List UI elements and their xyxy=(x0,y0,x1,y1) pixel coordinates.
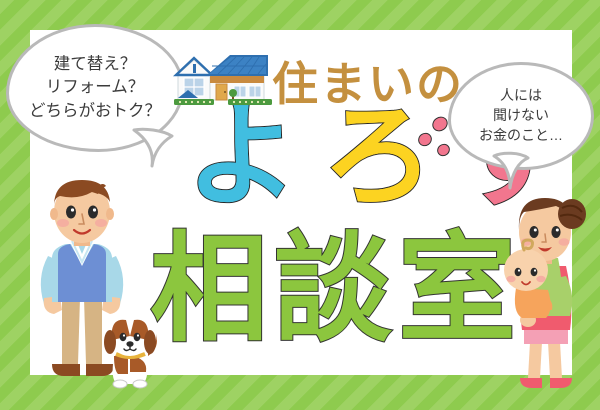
bubble-left-text: 建て替え？ リフォーム？ どちらがおトク？ xyxy=(6,24,184,152)
headline-char-yo: よ xyxy=(186,104,298,212)
question-bubble-right: 人には 聞けない お金のこと… xyxy=(448,62,594,170)
bubble-right-text: 人には 聞けない お金のこと… xyxy=(448,62,594,170)
headline-char-ro: ろ xyxy=(322,104,434,212)
headline-char-dan: 談 xyxy=(274,230,392,348)
house-with-solar-panels-illustration xyxy=(172,42,276,112)
bubble-right-line-1: 人には xyxy=(500,86,542,106)
bubble-right-line-3: お金のこと… xyxy=(479,126,563,146)
headline-char-sou: 相 xyxy=(150,230,268,348)
bubble-left-line-2: リフォーム？ xyxy=(46,76,145,99)
sitting-beagle-dog-illustration xyxy=(100,312,162,390)
poster-canvas: 住まいの よ ろ ず 相 談 室 建て替え？ リフォーム？ どちらがおトク？ xyxy=(0,0,600,410)
bubble-left-line-1: 建て替え？ xyxy=(54,53,137,76)
bubble-right-line-2: 聞けない xyxy=(493,106,549,126)
bubble-left-line-3: どちらがおトク？ xyxy=(29,100,161,123)
mother-holding-baby-illustration xyxy=(488,192,596,402)
headline-soudanshitsu: 相 談 室 xyxy=(150,230,516,348)
question-bubble-left: 建て替え？ リフォーム？ どちらがおトク？ xyxy=(6,24,184,152)
